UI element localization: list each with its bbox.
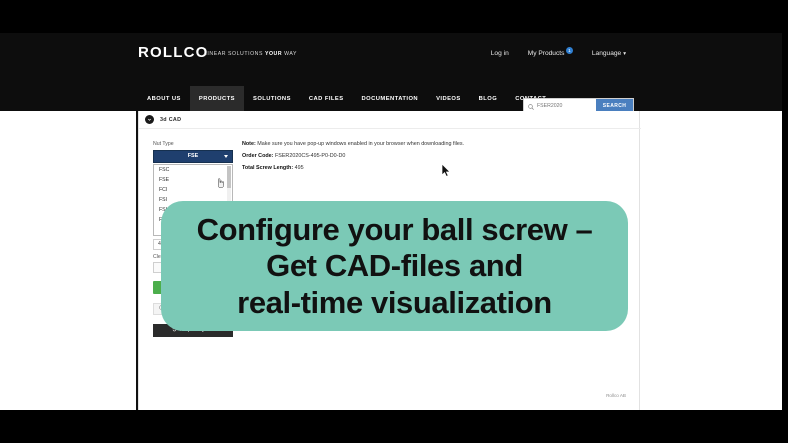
overlay-line-2: Get CAD-files and bbox=[266, 248, 523, 283]
login-link[interactable]: Log in bbox=[491, 50, 509, 57]
note-label: Note: bbox=[242, 141, 256, 147]
nut-type-select[interactable]: FSE bbox=[153, 150, 233, 163]
total-length-label: Total Screw Length: bbox=[242, 165, 293, 171]
site-header: ROLLCO LINEAR SOLUTIONS YOUR WAY Log in … bbox=[0, 33, 782, 86]
overlay-line-1: Configure your ball screw – bbox=[197, 212, 593, 247]
overlay-line-3: real-time visualization bbox=[237, 285, 552, 320]
letterbox-bottom bbox=[0, 410, 788, 443]
promo-overlay-banner: Configure your ball screw – Get CAD-file… bbox=[161, 201, 628, 331]
dropdown-hand-cursor bbox=[216, 175, 224, 193]
browser-viewport: ROLLCO LINEAR SOLUTIONS YOUR WAY Log in … bbox=[0, 33, 782, 410]
note-text: Make sure you have pop-up windows enable… bbox=[256, 141, 464, 147]
rollco-logo[interactable]: ROLLCO bbox=[138, 44, 209, 61]
my-products-label: My Products bbox=[528, 50, 565, 57]
nav-item-products[interactable]: PRODUCTS bbox=[190, 86, 244, 111]
tagline-post: WAY bbox=[282, 51, 297, 57]
nav-item-blog[interactable]: BLOG bbox=[470, 86, 507, 111]
language-selector[interactable]: Language▾ bbox=[592, 50, 626, 57]
search-input[interactable] bbox=[537, 103, 596, 109]
utility-nav: Log in My Products1 Language▾ bbox=[491, 50, 626, 57]
letterbox-right bbox=[782, 0, 788, 443]
nav-item-about-us[interactable]: ABOUT US bbox=[138, 86, 190, 111]
letterbox-top bbox=[0, 0, 788, 33]
mouse-cursor bbox=[442, 164, 451, 182]
order-info-block: Note: Make sure you have pop-up windows … bbox=[242, 141, 612, 177]
language-label: Language bbox=[592, 50, 621, 57]
my-products-count-badge: 1 bbox=[566, 47, 573, 54]
left-rail bbox=[0, 111, 138, 410]
nav-item-cad-files[interactable]: CAD FILES bbox=[300, 86, 353, 111]
right-rail bbox=[641, 111, 782, 410]
chevron-down-icon: ▾ bbox=[623, 51, 626, 57]
nav-item-documentation[interactable]: DOCUMENTATION bbox=[353, 86, 428, 111]
dropdown-option-fsc[interactable]: FSC bbox=[154, 165, 232, 175]
tagline-bold: YOUR bbox=[265, 51, 282, 57]
order-code-label: Order Code: bbox=[242, 153, 273, 159]
total-length-line: Total Screw Length: 495 bbox=[242, 165, 612, 171]
nut-type-label: Nut Type bbox=[153, 141, 233, 147]
note-line: Note: Make sure you have pop-up windows … bbox=[242, 141, 612, 147]
order-code-line: Order Code: FSER2020CS-495-P0-D0-D0 bbox=[242, 153, 612, 159]
nut-type-selected-value: FSE bbox=[188, 153, 198, 159]
chevron-down-icon bbox=[224, 155, 228, 158]
order-code-value: FSER2020CS-495-P0-D0-D0 bbox=[273, 153, 345, 159]
tagline-pre: LINEAR SOLUTIONS bbox=[204, 51, 265, 57]
screenshot-root: ROLLCO LINEAR SOLUTIONS YOUR WAY Log in … bbox=[0, 0, 788, 443]
cad-section-header[interactable]: 3d CAD bbox=[139, 111, 641, 129]
content-left-divider bbox=[136, 111, 138, 410]
site-tagline: LINEAR SOLUTIONS YOUR WAY bbox=[204, 51, 297, 57]
drawing-watermark: Rollco AB bbox=[606, 393, 626, 398]
main-navigation: ABOUT US PRODUCTS SOLUTIONS CAD FILES DO… bbox=[0, 86, 782, 111]
nav-item-solutions[interactable]: SOLUTIONS bbox=[244, 86, 300, 111]
cad-section-label: 3d CAD bbox=[160, 117, 181, 123]
my-products-link[interactable]: My Products1 bbox=[528, 50, 573, 57]
dropdown-scrollbar-thumb[interactable] bbox=[227, 166, 231, 188]
chevron-down-icon[interactable] bbox=[145, 115, 154, 124]
nav-item-videos[interactable]: VIDEOS bbox=[427, 86, 470, 111]
total-length-value: 495 bbox=[293, 165, 304, 171]
